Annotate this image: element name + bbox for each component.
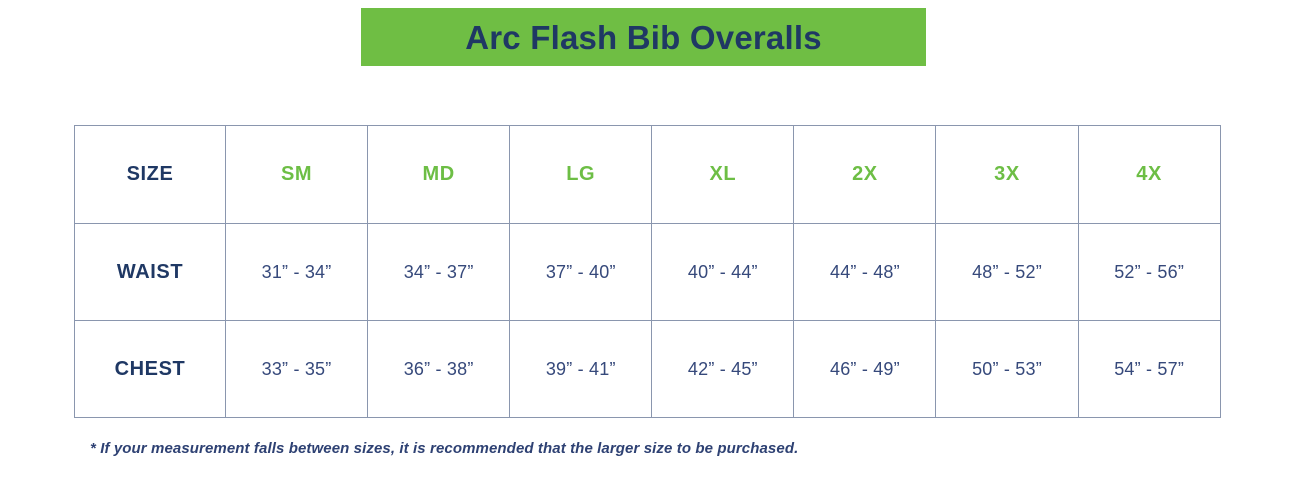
cell-chest-3x: 50” - 53”: [936, 321, 1078, 418]
cell-waist-2x: 44” - 48”: [794, 224, 936, 321]
cell-value-waist-md: 34” - 37”: [404, 262, 474, 282]
header-cell-2x: 2X: [794, 126, 936, 224]
row-label-chest: CHEST: [115, 358, 186, 380]
header-label-sm: SM: [281, 163, 312, 185]
header-cell-sm: SM: [226, 126, 368, 224]
header-cell-md: MD: [368, 126, 510, 224]
header-label-3x: 3X: [994, 163, 1020, 185]
cell-value-waist-4x: 52” - 56”: [1114, 262, 1184, 282]
cell-value-chest-2x: 46” - 49”: [830, 359, 900, 379]
cell-value-chest-xl: 42” - 45”: [688, 359, 758, 379]
cell-value-waist-3x: 48” - 52”: [972, 262, 1042, 282]
header-label-md: MD: [422, 163, 454, 185]
header-label-4x: 4X: [1136, 163, 1162, 185]
cell-value-chest-3x: 50” - 53”: [972, 359, 1042, 379]
row-label-cell-waist: WAIST: [75, 224, 226, 321]
cell-chest-xl: 42” - 45”: [652, 321, 794, 418]
cell-value-waist-lg: 37” - 40”: [546, 262, 616, 282]
page-title: Arc Flash Bib Overalls: [465, 21, 822, 54]
cell-value-waist-xl: 40” - 44”: [688, 262, 758, 282]
cell-waist-xl: 40” - 44”: [652, 224, 794, 321]
header-label-lg: LG: [566, 163, 595, 185]
size-chart-table: SIZE SM MD LG XL 2X 3X: [74, 125, 1221, 418]
cell-chest-2x: 46” - 49”: [794, 321, 936, 418]
cell-chest-md: 36” - 38”: [368, 321, 510, 418]
header-cell-xl: XL: [652, 126, 794, 224]
header-label-xl: XL: [709, 163, 736, 185]
header-cell-lg: LG: [510, 126, 652, 224]
cell-chest-4x: 54” - 57”: [1078, 321, 1220, 418]
cell-value-chest-md: 36” - 38”: [404, 359, 474, 379]
table-row-chest: CHEST 33” - 35” 36” - 38” 39” - 41” 42” …: [75, 321, 1221, 418]
cell-value-chest-4x: 54” - 57”: [1114, 359, 1184, 379]
size-chart-page: Arc Flash Bib Overalls SIZE SM MD LG XL: [0, 0, 1293, 490]
header-cell-3x: 3X: [936, 126, 1078, 224]
header-cell-4x: 4X: [1078, 126, 1220, 224]
cell-chest-sm: 33” - 35”: [226, 321, 368, 418]
header-label-size: SIZE: [127, 163, 174, 185]
cell-waist-md: 34” - 37”: [368, 224, 510, 321]
cell-waist-lg: 37” - 40”: [510, 224, 652, 321]
cell-chest-lg: 39” - 41”: [510, 321, 652, 418]
footnote-text: * If your measurement falls between size…: [90, 440, 798, 457]
title-banner: Arc Flash Bib Overalls: [361, 8, 926, 66]
header-label-2x: 2X: [852, 163, 878, 185]
table-header-row: SIZE SM MD LG XL 2X 3X: [75, 126, 1221, 224]
cell-waist-sm: 31” - 34”: [226, 224, 368, 321]
cell-value-chest-lg: 39” - 41”: [546, 359, 616, 379]
row-label-waist: WAIST: [117, 261, 183, 283]
cell-value-waist-sm: 31” - 34”: [262, 262, 332, 282]
row-label-cell-chest: CHEST: [75, 321, 226, 418]
header-cell-size: SIZE: [75, 126, 226, 224]
cell-waist-4x: 52” - 56”: [1078, 224, 1220, 321]
cell-value-waist-2x: 44” - 48”: [830, 262, 900, 282]
table-row-waist: WAIST 31” - 34” 34” - 37” 37” - 40” 40” …: [75, 224, 1221, 321]
cell-waist-3x: 48” - 52”: [936, 224, 1078, 321]
cell-value-chest-sm: 33” - 35”: [262, 359, 332, 379]
